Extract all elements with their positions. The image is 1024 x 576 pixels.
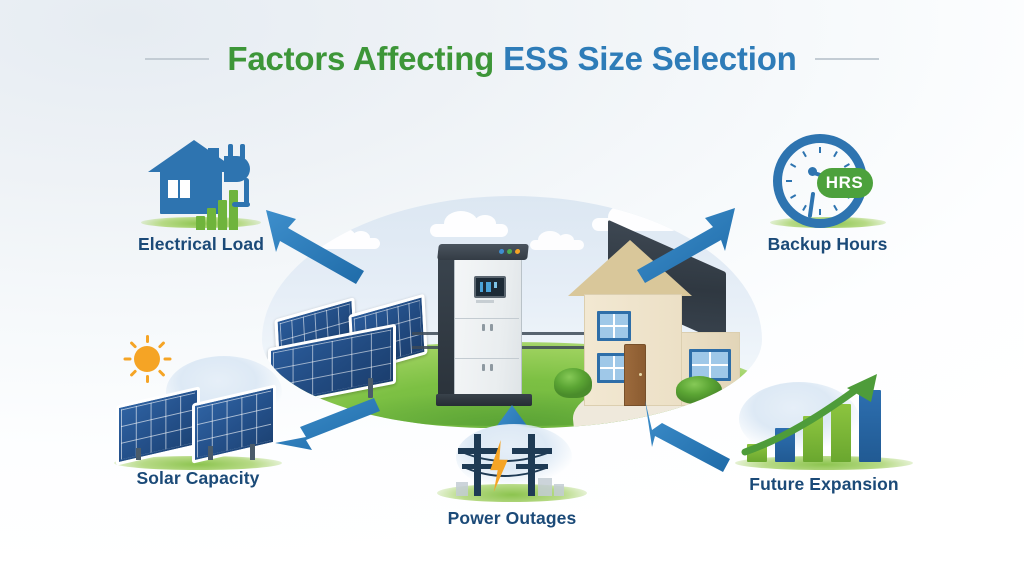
factor-power-outages[interactable]: Power Outages xyxy=(406,420,618,529)
factor-backup-hours[interactable]: HRS Backup Hours xyxy=(720,128,935,255)
growth-bar-chart-with-arrow-icon xyxy=(729,368,919,476)
plug-prong xyxy=(228,144,233,160)
sun-icon xyxy=(134,346,160,372)
cabinet-top-unit xyxy=(437,244,529,260)
ess-system-illustration xyxy=(262,196,762,428)
house-window-shape xyxy=(168,180,190,198)
cabinet-display-screen xyxy=(474,276,506,298)
scene-sky-oval xyxy=(262,196,762,428)
cabinet-divider xyxy=(455,358,519,359)
clock-with-hrs-badge-icon: HRS xyxy=(765,128,891,230)
factor-label: Future Expansion xyxy=(718,474,930,495)
factor-solar-capacity[interactable]: Solar Capacity xyxy=(92,332,304,489)
title-part-green: Factors Affecting xyxy=(227,40,494,77)
cabinet-vent xyxy=(476,300,494,303)
factor-future-expansion[interactable]: Future Expansion xyxy=(718,368,930,495)
transmission-towers-with-lightning-bolt-icon xyxy=(432,420,592,506)
cabinet-base xyxy=(436,394,532,406)
solar-panel-leg xyxy=(208,446,213,460)
led-orange xyxy=(515,249,521,254)
cabinet-divider xyxy=(455,318,519,319)
bar-1 xyxy=(196,216,205,230)
infographic-canvas: Factors Affecting ESS Size Selection xyxy=(0,0,1024,576)
bar-3 xyxy=(218,200,227,230)
house-window xyxy=(597,311,631,341)
cabinet-handle xyxy=(482,364,485,371)
title-rule-left xyxy=(145,58,209,60)
bar-2 xyxy=(207,208,216,230)
factor-label: Electrical Load xyxy=(96,234,306,255)
residential-house-with-rooftop-solar xyxy=(550,240,740,410)
led-green xyxy=(507,249,513,254)
hrs-badge: HRS xyxy=(817,168,873,198)
cabinet-handle xyxy=(482,324,485,331)
solar-panel-leg xyxy=(250,444,255,460)
cloud-icon xyxy=(430,224,508,237)
cabinet-handle xyxy=(490,364,493,371)
bush-icon xyxy=(676,376,722,404)
plug-cord xyxy=(232,202,250,207)
house-roof xyxy=(568,240,692,296)
factor-label: Power Outages xyxy=(406,508,618,529)
led-blue xyxy=(499,249,505,254)
cabinet-status-leds xyxy=(499,249,521,254)
cabinet-handle xyxy=(490,324,493,331)
cloud-icon xyxy=(592,218,678,231)
house-with-plug-and-bar-chart-icon xyxy=(136,130,266,230)
title-text: Factors Affecting ESS Size Selection xyxy=(227,40,796,78)
door-knob xyxy=(639,373,642,376)
plug-prong xyxy=(240,144,245,160)
solar-panel-leg xyxy=(368,378,373,398)
bush-icon xyxy=(554,368,592,398)
solar-panel-icon xyxy=(116,386,200,465)
house-door xyxy=(624,344,646,406)
battery-energy-storage-cabinet xyxy=(438,244,530,400)
growth-arrow-icon xyxy=(729,368,919,476)
page-title: Factors Affecting ESS Size Selection xyxy=(0,40,1024,78)
solar-panel-leg xyxy=(136,448,141,460)
factor-electrical-load[interactable]: Electrical Load xyxy=(96,130,306,255)
solar-panels-with-sun-icon xyxy=(108,332,288,472)
title-rule-right xyxy=(815,58,879,60)
factor-label: Backup Hours xyxy=(720,234,935,255)
title-part-blue: ESS Size Selection xyxy=(503,40,797,77)
bar-4 xyxy=(229,190,238,230)
clock-center-pin xyxy=(808,167,817,176)
power-lines xyxy=(432,420,592,506)
cloud-icon xyxy=(320,238,380,249)
